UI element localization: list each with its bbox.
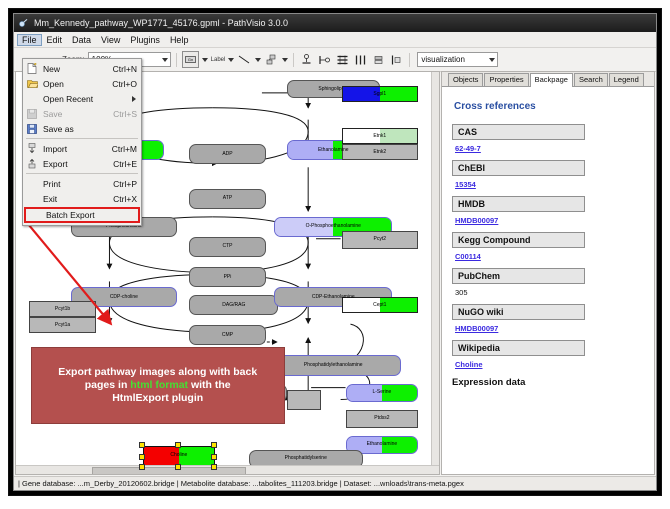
svg-text:Gn: Gn	[188, 57, 193, 62]
menu-item-open-recent[interactable]: Open Recent	[23, 91, 141, 106]
menu-item-print[interactable]: Print Ctrl+P	[23, 176, 141, 191]
menu-item-export[interactable]: Export Ctrl+E	[23, 156, 141, 171]
menu-item-open[interactable]: Open Ctrl+O	[23, 76, 141, 91]
selection-handle[interactable]	[211, 464, 217, 470]
menu-item-save: Save Ctrl+S	[23, 106, 141, 121]
menu-separator-2	[26, 173, 138, 174]
status-text: | Gene database: ...m_Derby_20120602.bri…	[18, 479, 464, 488]
xref-source-label: Kegg Compound	[452, 232, 585, 248]
screenshot-root: Mm_Kennedy_pathway_WP1771_45176.gpml - P…	[0, 0, 670, 509]
side-panel-tabs: Objects Properties Backpage Search Legen…	[442, 72, 654, 87]
xref-kegg-compound: Kegg Compound C00114	[452, 232, 644, 261]
status-bar: | Gene database: ...m_Derby_20120602.bri…	[14, 476, 656, 490]
line-dropdown-arrow-icon[interactable]	[255, 58, 261, 62]
menu-view[interactable]: View	[96, 34, 125, 46]
side-panel: Objects Properties Backpage Search Legen…	[441, 71, 655, 475]
menu-item-batch-export[interactable]: Batch Export	[24, 207, 140, 223]
shape-button[interactable]	[264, 52, 279, 67]
xref-wikipedia: Wikipedia Choline	[452, 340, 644, 369]
distribute-horizontal-button[interactable]	[353, 52, 368, 67]
align-top-button[interactable]	[299, 52, 314, 67]
xref-value[interactable]: 62-49-7	[455, 144, 644, 153]
xref-source-label: Wikipedia	[452, 340, 585, 356]
stack-button[interactable]	[389, 52, 404, 67]
tab-backpage[interactable]: Backpage	[530, 73, 573, 87]
menu-plugins[interactable]: Plugins	[125, 34, 165, 46]
window-title: Mm_Kennedy_pathway_WP1771_45176.gpml - P…	[34, 18, 288, 28]
no-icon-3	[25, 193, 39, 205]
selection-handle[interactable]	[211, 442, 217, 448]
application-window: Mm_Kennedy_pathway_WP1771_45176.gpml - P…	[8, 8, 662, 496]
file-menu-dropdown[interactable]: New Ctrl+N Open Ctrl+O Open Recent Save	[22, 58, 142, 226]
visualization-value: visualization	[421, 55, 465, 64]
chevron-down-icon	[162, 58, 168, 62]
xref-value[interactable]: Choline	[455, 360, 644, 369]
selection-handle[interactable]	[139, 464, 145, 470]
menu-item-new[interactable]: New Ctrl+N	[23, 61, 141, 76]
xref-value[interactable]: 15354	[455, 180, 644, 189]
title-bar: Mm_Kennedy_pathway_WP1771_45176.gpml - P…	[14, 14, 656, 32]
xref-source-label: NuGO wiki	[452, 304, 585, 320]
xref-source-label: CAS	[452, 124, 585, 140]
xref-chebi: ChEBI 15354	[452, 160, 644, 189]
xref-link[interactable]: 15354	[455, 180, 476, 189]
same-width-button[interactable]	[371, 52, 386, 67]
xref-value[interactable]: C00114	[455, 252, 644, 261]
export-icon	[25, 158, 39, 170]
menu-item-exit[interactable]: Exit Ctrl+X	[23, 191, 141, 206]
xref-nugo-wiki: NuGO wiki HMDB00097	[452, 304, 644, 333]
tab-properties[interactable]: Properties	[484, 73, 528, 86]
toolbar-separator	[176, 53, 177, 67]
tab-search[interactable]: Search	[574, 73, 608, 86]
xref-source-label: HMDB	[452, 196, 585, 212]
selection-handle[interactable]	[211, 454, 217, 460]
cross-references-heading: Cross references	[454, 101, 644, 112]
backpage-content: Cross references CAS 62-49-7 ChEBI 15354…	[442, 87, 654, 474]
submenu-arrow-icon	[132, 96, 136, 102]
xref-pubchem: PubChem 305	[452, 268, 644, 297]
xref-source-label: ChEBI	[452, 160, 585, 176]
xref-link[interactable]: 62-49-7	[455, 144, 481, 153]
line-button[interactable]	[237, 52, 252, 67]
xref-link[interactable]: HMDB00097	[455, 324, 498, 333]
menu-separator	[26, 138, 138, 139]
xref-cas: CAS 62-49-7	[452, 124, 644, 153]
distribute-vertical-button[interactable]	[335, 52, 350, 67]
xref-value[interactable]: HMDB00097	[455, 216, 644, 225]
window-inner: Mm_Kennedy_pathway_WP1771_45176.gpml - P…	[13, 13, 657, 491]
menu-item-save-as[interactable]: Save as	[23, 121, 141, 136]
xref-hmdb: HMDB HMDB00097	[452, 196, 644, 225]
gene-product-button[interactable]: Gn	[182, 51, 199, 68]
tab-objects[interactable]: Objects	[448, 73, 483, 86]
menu-item-import[interactable]: Import Ctrl+M	[23, 141, 141, 156]
xref-link[interactable]: Choline	[455, 360, 483, 369]
selection-handle[interactable]	[139, 454, 145, 460]
align-left-button[interactable]	[317, 52, 332, 67]
xref-value[interactable]: HMDB00097	[455, 324, 644, 333]
no-icon-4	[28, 209, 42, 221]
save-as-icon	[25, 123, 39, 135]
gene-dropdown-arrow-icon[interactable]	[202, 58, 208, 62]
expression-data-heading: Expression data	[452, 377, 644, 388]
shape-dropdown-arrow-icon[interactable]	[282, 58, 288, 62]
no-icon-2	[25, 178, 39, 190]
new-file-icon	[25, 63, 39, 75]
save-icon	[25, 108, 39, 120]
label-button[interactable]: Label	[211, 57, 226, 63]
toolbar-separator-2	[293, 53, 294, 67]
import-icon	[25, 143, 39, 155]
menu-bar: File Edit Data View Plugins Help	[14, 32, 656, 48]
no-icon	[25, 93, 39, 105]
xref-value: 305	[455, 288, 644, 297]
menu-data[interactable]: Data	[67, 34, 96, 46]
selection-handle[interactable]	[175, 442, 181, 448]
selection-handle[interactable]	[175, 464, 181, 470]
selection-handle[interactable]	[139, 442, 145, 448]
xref-link[interactable]: C00114	[455, 252, 481, 261]
open-folder-icon	[25, 78, 39, 90]
xref-source-label: PubChem	[452, 268, 585, 284]
label-dropdown-arrow-icon[interactable]	[228, 58, 234, 62]
menu-file[interactable]: File	[17, 34, 42, 46]
menu-edit[interactable]: Edit	[42, 34, 68, 46]
chevron-down-icon-2	[489, 58, 495, 62]
visualization-combo[interactable]: visualization	[417, 52, 498, 67]
menu-help[interactable]: Help	[165, 34, 194, 46]
pathvisio-icon	[19, 18, 29, 28]
xref-link[interactable]: HMDB00097	[455, 216, 498, 225]
toolbar-separator-3	[409, 53, 410, 67]
tab-legend[interactable]: Legend	[609, 73, 644, 86]
